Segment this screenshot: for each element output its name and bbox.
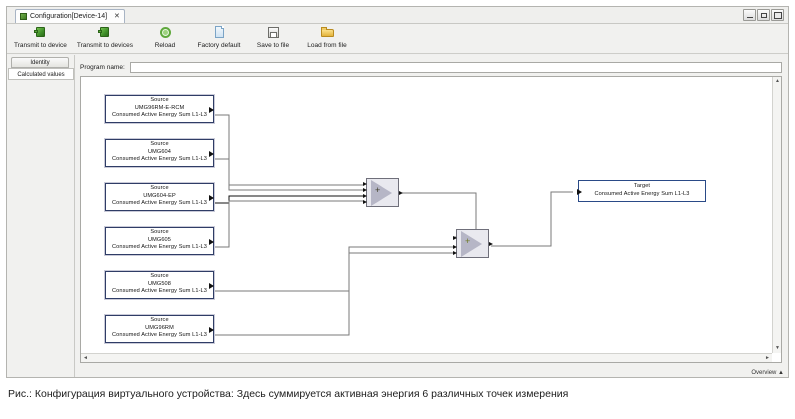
tab-label: Configuration[Device-14] bbox=[30, 13, 107, 20]
input-pin-icon bbox=[453, 245, 457, 249]
toolbar: Transmit to device Transmit to devices R… bbox=[7, 24, 788, 54]
block-measurand: Consumed Active Energy Sum L1-L3 bbox=[106, 112, 213, 120]
overview-toggle[interactable]: Overview ▲ bbox=[751, 370, 784, 376]
close-icon[interactable]: ✕ bbox=[114, 13, 120, 20]
input-pin-icon bbox=[453, 251, 457, 255]
input-pin-icon bbox=[363, 182, 367, 186]
toolbar-label: Transmit to devices bbox=[77, 41, 133, 50]
block-measurand: Consumed Active Energy Sum L1-L3 bbox=[106, 156, 213, 164]
block-device: UMG508 bbox=[106, 281, 213, 289]
tab-strip: Configuration[Device-14] ✕ bbox=[7, 7, 788, 24]
application-window: Configuration[Device-14] ✕ Transmit to d… bbox=[6, 6, 789, 378]
reload-icon bbox=[158, 25, 173, 40]
program-name-row: Program name: bbox=[80, 61, 782, 73]
content-area: Program name: bbox=[76, 55, 788, 377]
output-port-icon bbox=[209, 283, 214, 289]
adder-block[interactable]: + bbox=[456, 229, 489, 258]
transmit-to-devices-button[interactable]: Transmit to devices bbox=[72, 24, 138, 50]
source-block[interactable]: Source UMG96RM-E-RCM Consumed Active Ene… bbox=[105, 95, 214, 123]
tab-configuration-device-14[interactable]: Configuration[Device-14] ✕ bbox=[15, 9, 125, 23]
block-kind: Source bbox=[106, 229, 213, 237]
transmit-to-device-button[interactable]: Transmit to device bbox=[9, 24, 72, 50]
factory-default-icon bbox=[212, 25, 227, 40]
factory-default-button[interactable]: Factory default bbox=[192, 24, 246, 50]
sidebar: Identity Calculated values bbox=[7, 55, 75, 377]
canvas-vertical-scrollbar[interactable]: ▲ ▼ bbox=[772, 77, 781, 353]
block-measurand: Consumed Active Energy Sum L1-L3 bbox=[106, 244, 213, 252]
window-controls bbox=[743, 9, 784, 21]
output-port-icon bbox=[209, 327, 214, 333]
load-from-file-button[interactable]: Load from file bbox=[300, 24, 354, 50]
toolbar-label: Factory default bbox=[198, 41, 241, 50]
source-block[interactable]: Source UMG604-EP Consumed Active Energy … bbox=[105, 183, 214, 211]
save-to-file-button[interactable]: Save to file bbox=[246, 24, 300, 50]
input-pin-icon bbox=[363, 188, 367, 192]
source-block[interactable]: Source UMG605 Consumed Active Energy Sum… bbox=[105, 227, 214, 255]
block-measurand: Consumed Active Energy Sum L1-L3 bbox=[106, 332, 213, 340]
close-window-button[interactable] bbox=[771, 9, 784, 21]
tab-identity[interactable]: Identity bbox=[11, 57, 69, 68]
toolbar-label: Load from file bbox=[307, 41, 346, 50]
toolbar-label: Save to file bbox=[257, 41, 289, 50]
reload-button[interactable]: Reload bbox=[138, 24, 192, 50]
block-device: UMG605 bbox=[106, 237, 213, 245]
block-kind: Source bbox=[106, 141, 213, 149]
adder-symbol: + bbox=[375, 186, 380, 195]
output-port-icon bbox=[209, 239, 214, 245]
scroll-right-icon[interactable]: ► bbox=[763, 354, 772, 363]
target-block[interactable]: Target Consumed Active Energy Sum L1-L3 bbox=[578, 180, 706, 202]
maximize-button[interactable] bbox=[757, 9, 770, 21]
block-kind: Source bbox=[106, 185, 213, 193]
source-block[interactable]: Source UMG96RM Consumed Active Energy Su… bbox=[105, 315, 214, 343]
output-pin-icon bbox=[489, 242, 493, 246]
figure-caption: Рис.: Конфигурация виртуального устройст… bbox=[8, 388, 788, 400]
block-device: UMG96RM bbox=[106, 325, 213, 333]
program-name-label: Program name: bbox=[80, 64, 125, 71]
scroll-up-icon[interactable]: ▲ bbox=[773, 77, 782, 86]
load-from-file-icon bbox=[320, 25, 335, 40]
block-kind: Source bbox=[106, 273, 213, 281]
sidebar-item-calculated-values[interactable]: Calculated values bbox=[8, 68, 74, 80]
toolbar-label: Reload bbox=[155, 41, 176, 50]
output-port-icon bbox=[209, 107, 214, 113]
scroll-left-icon[interactable]: ◄ bbox=[81, 354, 90, 363]
program-name-input[interactable] bbox=[130, 62, 782, 73]
input-pin-icon bbox=[363, 200, 367, 204]
block-device: UMG604 bbox=[106, 149, 213, 157]
output-port-icon bbox=[209, 195, 214, 201]
output-port-icon bbox=[209, 151, 214, 157]
source-block[interactable]: Source UMG508 Consumed Active Energy Sum… bbox=[105, 271, 214, 299]
transmit-devices-icon bbox=[97, 25, 112, 40]
block-kind: Source bbox=[106, 317, 213, 325]
diagram-canvas[interactable]: Source UMG96RM-E-RCM Consumed Active Ene… bbox=[80, 76, 782, 363]
output-pin-icon bbox=[399, 191, 403, 195]
block-device: UMG604-EP bbox=[106, 193, 213, 201]
source-block[interactable]: Source UMG604 Consumed Active Energy Sum… bbox=[105, 139, 214, 167]
block-measurand: Consumed Active Energy Sum L1-L3 bbox=[106, 288, 213, 296]
scroll-down-icon[interactable]: ▼ bbox=[773, 344, 782, 353]
input-pin-icon bbox=[363, 194, 367, 198]
canvas-horizontal-scrollbar[interactable]: ◄ ► bbox=[81, 353, 772, 362]
block-kind: Target bbox=[579, 183, 705, 191]
block-device: UMG96RM-E-RCM bbox=[106, 105, 213, 113]
document-icon bbox=[20, 13, 27, 20]
block-measurand: Consumed Active Energy Sum L1-L3 bbox=[106, 200, 213, 208]
adder-block[interactable]: + bbox=[366, 178, 399, 207]
save-to-file-icon bbox=[266, 25, 281, 40]
input-port-icon bbox=[577, 189, 582, 195]
diagram-surface: Source UMG96RM-E-RCM Consumed Active Ene… bbox=[81, 77, 781, 362]
transmit-device-icon bbox=[33, 25, 48, 40]
adder-symbol: + bbox=[465, 237, 470, 246]
block-measurand: Consumed Active Energy Sum L1-L3 bbox=[579, 191, 705, 199]
toolbar-label: Transmit to device bbox=[14, 41, 67, 50]
minimize-button[interactable] bbox=[743, 9, 756, 21]
block-kind: Source bbox=[106, 97, 213, 105]
input-pin-icon bbox=[453, 236, 457, 240]
